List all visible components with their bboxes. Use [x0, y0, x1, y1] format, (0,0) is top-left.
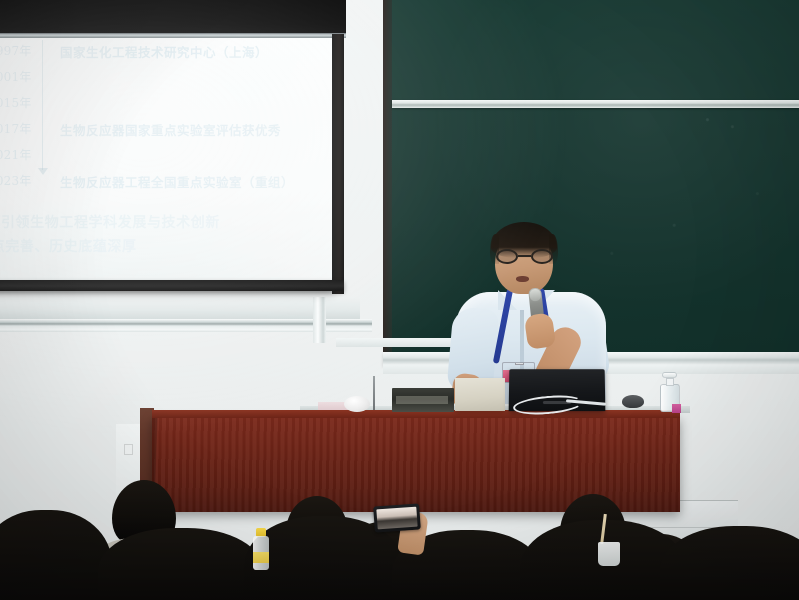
sanitizer-neck [666, 378, 674, 386]
timeline-label: 国家生化工程技术研究中心（上海） [60, 42, 328, 61]
projection-screen: 1997年 国家生化工程技术研究中心（上海） 2001年 2015年 2017年… [0, 0, 346, 296]
timeline-year: 2021年 [0, 146, 40, 163]
sanitizer-pump[interactable] [662, 372, 677, 378]
computer-mouse[interactable] [622, 395, 644, 408]
sanitizer-label [672, 404, 681, 413]
chalkboard-left-frame [383, 0, 392, 352]
smartphone-screen [376, 507, 417, 530]
wall-trim-middle [336, 338, 456, 347]
slide-footer-line-1: 4．引领生物工程学科发展与技术创新 [0, 212, 332, 232]
projection-screen-right-edge [332, 34, 344, 294]
white-round-object [344, 396, 370, 412]
timeline-label: 生物反应器工程全国重点实验室（重组） [60, 172, 328, 191]
audience-head-foreground [660, 526, 799, 600]
projection-screen-surface: 1997年 国家生化工程技术研究中心（上海） 2001年 2015年 2017年… [0, 38, 332, 290]
beige-equipment-box [455, 378, 505, 411]
timeline-row: 2001年 [0, 68, 332, 90]
projection-screen-top-bar [0, 0, 346, 38]
slide-content: 1997年 国家生化工程技术研究中心（上海） 2001年 2015年 2017年… [0, 38, 332, 290]
eyeglasses-icon [495, 249, 554, 264]
timeline-year: 2023年 [0, 172, 40, 189]
whiteboard-vertical-track [313, 297, 326, 343]
timeline-label: 生物反应器国家重点实验室评估获优秀 [60, 120, 328, 139]
whiteboard-recess [0, 297, 360, 319]
timeline-row: 2021年 [0, 146, 332, 168]
bottle-label [253, 552, 269, 563]
timeline-year: 2001年 [0, 68, 40, 85]
microphone-antenna [373, 376, 375, 410]
lecture-hall-photo: 1997年 国家生化工程技术研究中心（上海） 2001年 2015年 2017年… [0, 0, 799, 600]
badge-clip [515, 362, 524, 365]
timeline-year: 1997年 [0, 42, 40, 59]
lanyard-strap-left [493, 288, 513, 364]
water-bottle [253, 528, 269, 570]
audience-head-foreground [0, 510, 112, 600]
eyeglass-lens-right [531, 249, 553, 264]
hand-sanitizer-bottle [660, 372, 680, 412]
sanitizer-body [660, 384, 680, 412]
audience-head-foreground [98, 528, 264, 600]
eyeglass-bridge [518, 255, 531, 257]
slide-footer-line-2: 立点完善、历史底蕴深厚 [0, 236, 332, 256]
chalk-tray-rail [392, 100, 799, 108]
timeline-row: 2015年 [0, 94, 332, 116]
drink-cup [598, 542, 620, 566]
projection-screen-bottom-bar [0, 280, 344, 291]
smartphone[interactable] [373, 503, 421, 532]
timeline-row: 1997年 国家生化工程技术研究中心（上海） [0, 42, 332, 64]
speaker-mouth [516, 276, 529, 282]
timeline-year: 2017年 [0, 120, 40, 137]
eyeglass-lens-left [496, 249, 518, 264]
timeline-year: 2015年 [0, 94, 40, 111]
timeline-row: 2017年 生物反应器国家重点实验室评估获优秀 [0, 120, 332, 142]
dark-equipment-unit [392, 388, 454, 412]
timeline-row: 2023年 生物反应器工程全国重点实验室（重组） [0, 172, 332, 194]
